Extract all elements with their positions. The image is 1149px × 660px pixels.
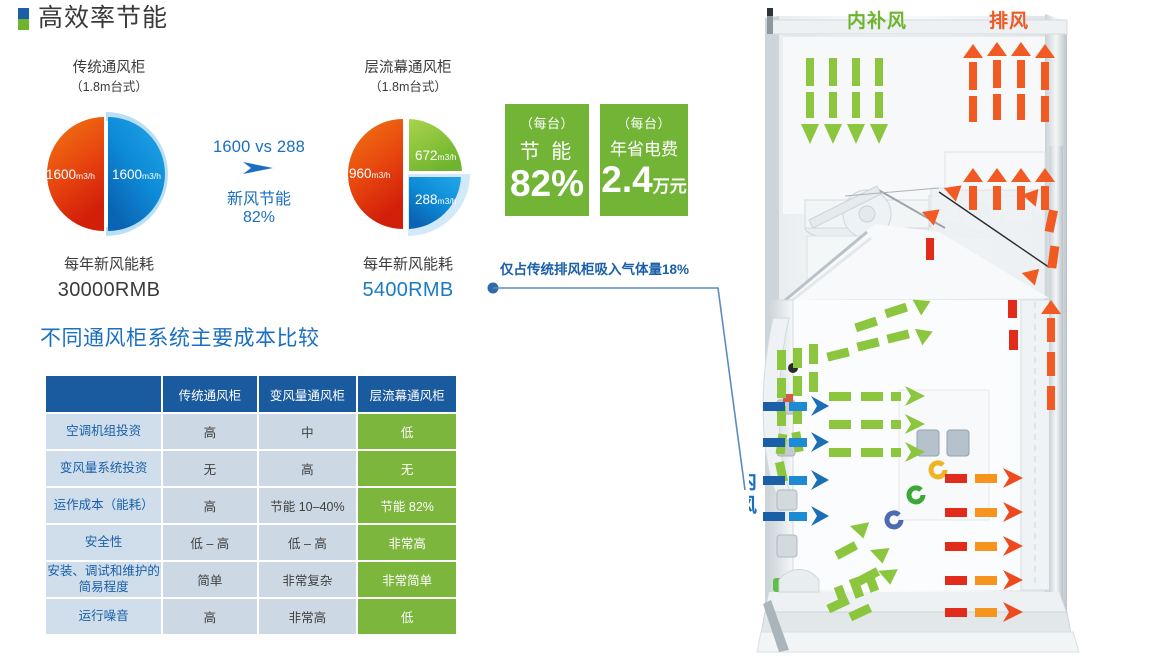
row-cell-highlight: 节能 82%	[358, 488, 456, 523]
pie-left-segment-label-2: 1600m3/h	[112, 167, 161, 182]
comparison-ratio: 1600 vs 288	[196, 138, 322, 157]
badge-annual-savings-top: （每台）	[600, 104, 688, 132]
chart-left-foot-label: 每年新风能耗	[14, 254, 204, 276]
table-header-row: 传统通风柜 变风量通风柜 层流幕通风柜	[46, 376, 456, 412]
table-row: 安全性 低 – 高 低 – 高 非常高	[46, 525, 456, 560]
fume-hood-diagram-svg	[749, 0, 1149, 660]
row-cell: 高	[259, 451, 357, 486]
badge-energy-saving: （每台） 节 能 82%	[505, 104, 589, 216]
row-cell: 高	[163, 414, 256, 449]
row-label: 安全性	[46, 525, 161, 560]
label-inner-supply-air: 内补风	[847, 6, 907, 33]
table-row: 变风量系统投资 无 高 无	[46, 451, 456, 486]
row-cell-highlight: 低	[358, 414, 456, 449]
chart-left-pie: 1600m3/h 1600m3/h	[34, 104, 184, 244]
badge-annual-savings-mid: 年省电费	[600, 135, 688, 160]
badge-energy-saving-mid: 节 能	[505, 135, 589, 164]
pie-left-segment-label-1: 1600m3/h	[46, 167, 95, 182]
chart-right-laminar: 层流幕通风柜 （1.8m台式） 960m3/h 672m3/h 288m3/h	[313, 58, 503, 305]
table-row: 运作成本（能耗） 高 节能 10–40% 节能 82%	[46, 488, 456, 523]
table-header-cell-0	[46, 376, 161, 412]
badge-energy-saving-top: （每台）	[505, 104, 589, 132]
chart-left-caption-main: 传统通风柜	[14, 58, 204, 79]
row-label: 空调机组投资	[46, 414, 161, 449]
chart-left-caption-sub: （1.8m台式）	[14, 79, 204, 97]
row-cell-highlight: 非常高	[358, 525, 456, 560]
comparison-value: 82%	[196, 209, 322, 227]
chart-right-foot-value: 5400RMB	[313, 276, 503, 305]
row-cell: 简单	[163, 562, 256, 597]
badge-annual-savings-value: 2.4万元	[600, 161, 688, 198]
badge-annual-savings: （每台） 年省电费 2.4万元	[600, 104, 688, 216]
table-row: 安装、调试和维护的简易程度 简单 非常复杂 非常简单	[46, 562, 456, 597]
infographic-page: 高效率节能 传统通风柜 （1.8m台式）	[0, 0, 1149, 660]
chart-right-pie: 960m3/h 672m3/h 288m3/h	[333, 104, 483, 244]
label-exhaust-air: 排风	[989, 6, 1029, 33]
chart-left-footer: 每年新风能耗 30000RMB	[14, 254, 204, 305]
page-title: 高效率节能	[38, 6, 168, 31]
pie-right-segment-label-1: 960m3/h	[349, 166, 390, 181]
row-cell: 非常复杂	[259, 562, 357, 597]
page-header: 高效率节能	[18, 6, 168, 31]
arrow-right-icon	[242, 160, 276, 176]
row-cell: 节能 10–40%	[259, 488, 357, 523]
row-cell: 中	[259, 414, 357, 449]
table-header-cell-3: 层流幕通风柜	[358, 376, 456, 412]
row-label: 运作成本（能耗）	[46, 488, 161, 523]
label-indoor-fresh-air-line1: 室内	[749, 470, 758, 494]
row-cell: 高	[163, 488, 256, 523]
row-label: 变风量系统投资	[46, 451, 161, 486]
label-indoor-fresh-air-line2: 新风	[749, 494, 758, 518]
table-row: 运行噪音 高 非常高 低	[46, 599, 456, 634]
row-label: 安装、调试和维护的简易程度	[46, 562, 161, 597]
comparison-label: 新风节能	[196, 185, 322, 209]
chart-left-traditional: 传统通风柜 （1.8m台式）	[14, 58, 204, 305]
row-cell-highlight: 无	[358, 451, 456, 486]
chart-right-caption-sub: （1.8m台式）	[313, 79, 503, 97]
row-cell: 无	[163, 451, 256, 486]
callout-leader-line	[482, 276, 762, 506]
table-header-cell-1: 传统通风柜	[163, 376, 256, 412]
cost-comparison-table: 传统通风柜 变风量通风柜 层流幕通风柜 空调机组投资 高 中 低 变风量系统投资…	[44, 374, 458, 636]
row-cell: 非常高	[259, 599, 357, 634]
row-cell: 高	[163, 599, 256, 634]
table-title: 不同通风柜系统主要成本比较	[40, 322, 320, 352]
row-cell-highlight: 低	[358, 599, 456, 634]
row-cell: 低 – 高	[259, 525, 357, 560]
row-cell: 低 – 高	[163, 525, 256, 560]
badge-energy-saving-value: 82%	[505, 165, 589, 202]
row-label: 运行噪音	[46, 599, 161, 634]
table-row: 空调机组投资 高 中 低	[46, 414, 456, 449]
fume-hood-airflow-illustration: 内补风 排风 室内 新风	[749, 0, 1149, 660]
label-indoor-fresh-air: 室内 新风	[749, 470, 758, 518]
brand-mark-icon	[18, 8, 29, 30]
chart-right-caption-main: 层流幕通风柜	[313, 58, 503, 79]
row-cell-highlight: 非常简单	[358, 562, 456, 597]
chart-left-caption: 传统通风柜 （1.8m台式）	[14, 58, 204, 96]
comparison-callout: 1600 vs 288 新风节能 82%	[196, 138, 322, 227]
chart-right-footer: 每年新风能耗 5400RMB	[313, 254, 503, 305]
pie-right-segment-label-2: 672m3/h	[415, 148, 456, 163]
chart-right-foot-label: 每年新风能耗	[313, 254, 503, 276]
callout-label: 仅占传统排风柜吸入气体量18%	[500, 258, 689, 278]
chart-right-caption: 层流幕通风柜 （1.8m台式）	[313, 58, 503, 96]
chart-left-foot-value: 30000RMB	[14, 276, 204, 305]
table-header-cell-2: 变风量通风柜	[259, 376, 357, 412]
pie-right-segment-label-3: 288m3/h	[415, 192, 456, 207]
